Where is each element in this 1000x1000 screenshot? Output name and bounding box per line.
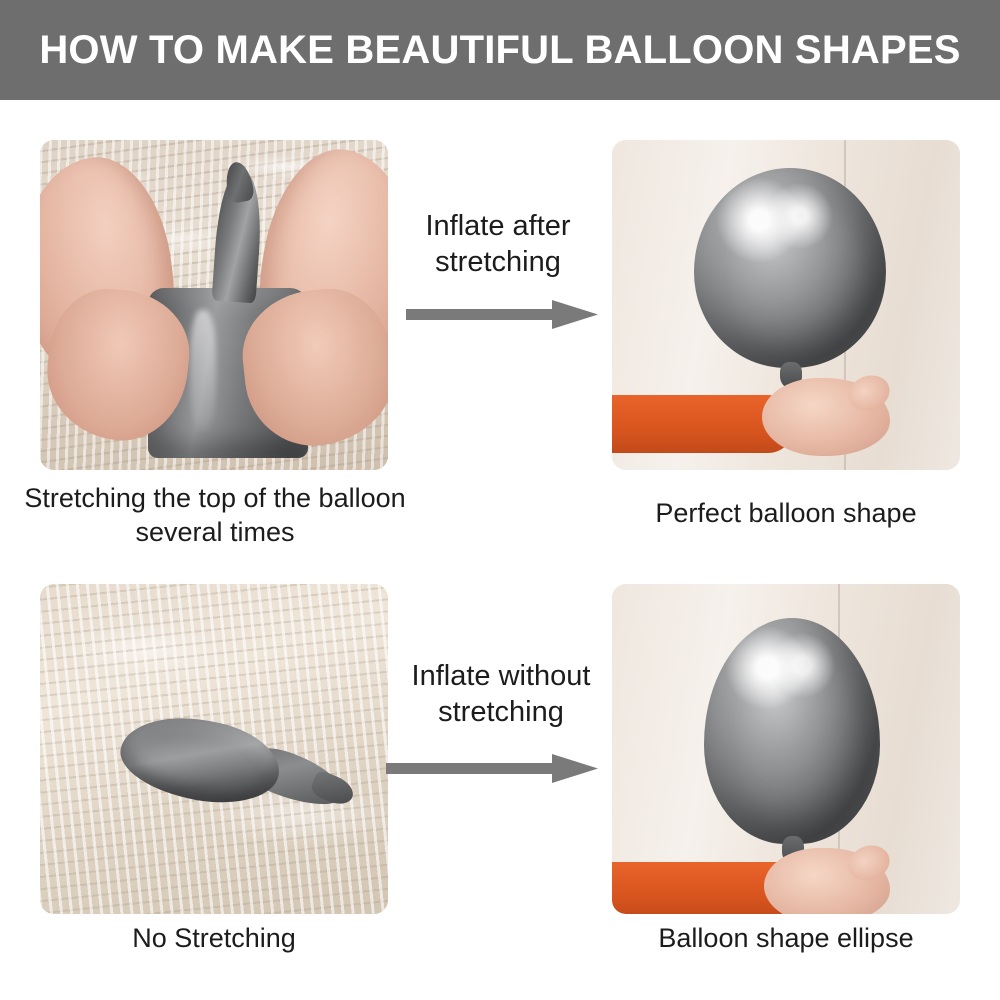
caption-step-2: Perfect balloon shape (612, 497, 960, 531)
page-title: HOW TO MAKE BEAUTIFUL BALLOON SHAPES (39, 28, 960, 73)
caption-step-1: Stretching the top of the balloon severa… (24, 482, 406, 550)
balloon-highlight (190, 310, 216, 430)
infographic-page: HOW TO MAKE BEAUTIFUL BALLOON SHAPES Str… (0, 0, 1000, 1000)
arrow-label-2-line1: Inflate without (382, 658, 620, 694)
arrow-right-icon-2 (386, 752, 600, 786)
photo-hands-stretching-balloon (40, 140, 388, 470)
arrow-label-1-line2: stretching (400, 244, 596, 280)
round-balloon (694, 168, 886, 368)
arrow-label-1-line1: Inflate after (400, 208, 596, 244)
caption-step-4: Balloon shape ellipse (600, 922, 972, 956)
photo-deflated-balloon (40, 584, 388, 914)
photo-ellipse-balloon (612, 584, 960, 914)
arrow-label-2: Inflate without stretching (382, 658, 620, 731)
photo-round-balloon (612, 140, 960, 470)
caption-step-3: No Stretching (40, 922, 388, 956)
header-bar: HOW TO MAKE BEAUTIFUL BALLOON SHAPES (0, 0, 1000, 100)
arrow-label-1: Inflate after stretching (400, 208, 596, 281)
arrow-label-2-line2: stretching (382, 694, 620, 730)
arrow-right-icon-1 (406, 298, 600, 332)
